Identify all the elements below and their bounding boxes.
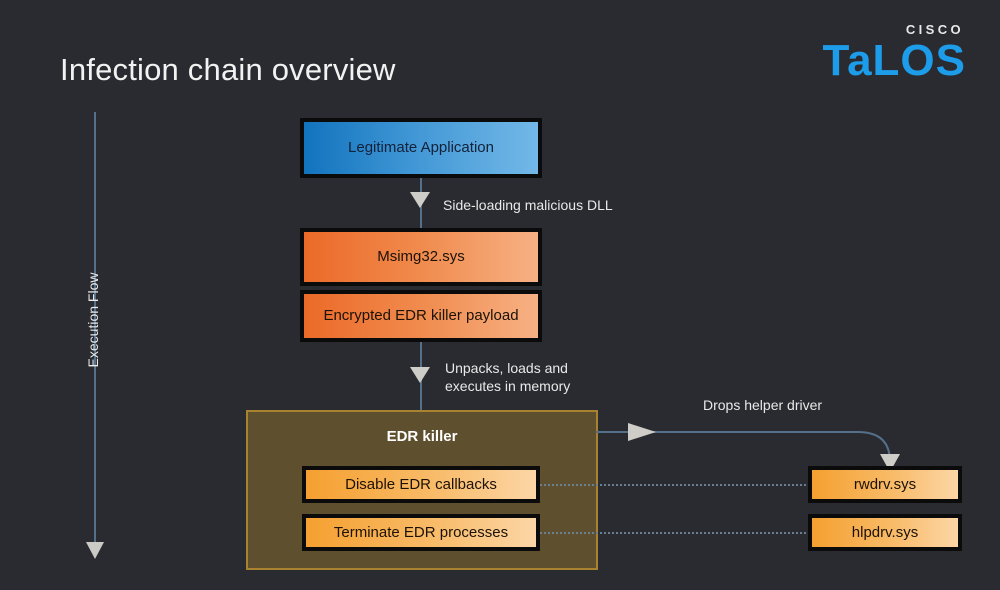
edge-label-unpack: Unpacks, loads and executes in memory <box>445 359 570 396</box>
node-hlpdrv-sys: hlpdrv.sys <box>808 514 962 551</box>
node-disable-edr-callbacks-label: Disable EDR callbacks <box>345 476 497 494</box>
infection-chain-slide: Infection chain overview CISCO TaLOS Exe… <box>0 0 1000 590</box>
page-title: Infection chain overview <box>60 52 396 88</box>
group-edr-killer-title: EDR killer <box>248 428 596 445</box>
cisco-wordmark: CISCO <box>822 22 964 37</box>
node-msimg32-label: Msimg32.sys <box>377 248 465 266</box>
node-rwdrv-sys: rwdrv.sys <box>808 466 962 503</box>
talos-wordmark: TaLOS <box>822 39 966 82</box>
node-legitimate-application: Legitimate Application <box>300 118 542 178</box>
node-msimg32: Msimg32.sys <box>300 228 542 286</box>
arrow-down-icon <box>86 542 104 559</box>
dotted-link-disable-to-rwdrv <box>540 484 810 486</box>
node-disable-edr-callbacks: Disable EDR callbacks <box>302 466 540 503</box>
node-rwdrv-sys-label: rwdrv.sys <box>854 476 916 494</box>
node-legitimate-application-label: Legitimate Application <box>348 139 494 157</box>
node-encrypted-payload: Encrypted EDR killer payload <box>300 290 542 342</box>
execution-flow-axis: Execution Flow <box>80 112 110 567</box>
node-terminate-edr-processes-label: Terminate EDR processes <box>334 524 508 542</box>
arrow-down-icon <box>410 192 430 208</box>
dotted-link-terminate-to-hlpdrv <box>540 532 810 534</box>
execution-flow-label: Execution Flow <box>85 255 101 385</box>
cisco-talos-logo: CISCO TaLOS <box>822 22 966 82</box>
node-hlpdrv-sys-label: hlpdrv.sys <box>852 524 918 542</box>
node-terminate-edr-processes: Terminate EDR processes <box>302 514 540 551</box>
node-encrypted-payload-label: Encrypted EDR killer payload <box>323 307 518 325</box>
arrow-down-icon <box>410 367 430 383</box>
connector-drops-helper-driver <box>596 404 906 474</box>
edge-label-sideload: Side-loading malicious DLL <box>443 196 613 214</box>
edge-label-drops: Drops helper driver <box>703 396 822 414</box>
arrow-right-icon <box>628 423 656 441</box>
